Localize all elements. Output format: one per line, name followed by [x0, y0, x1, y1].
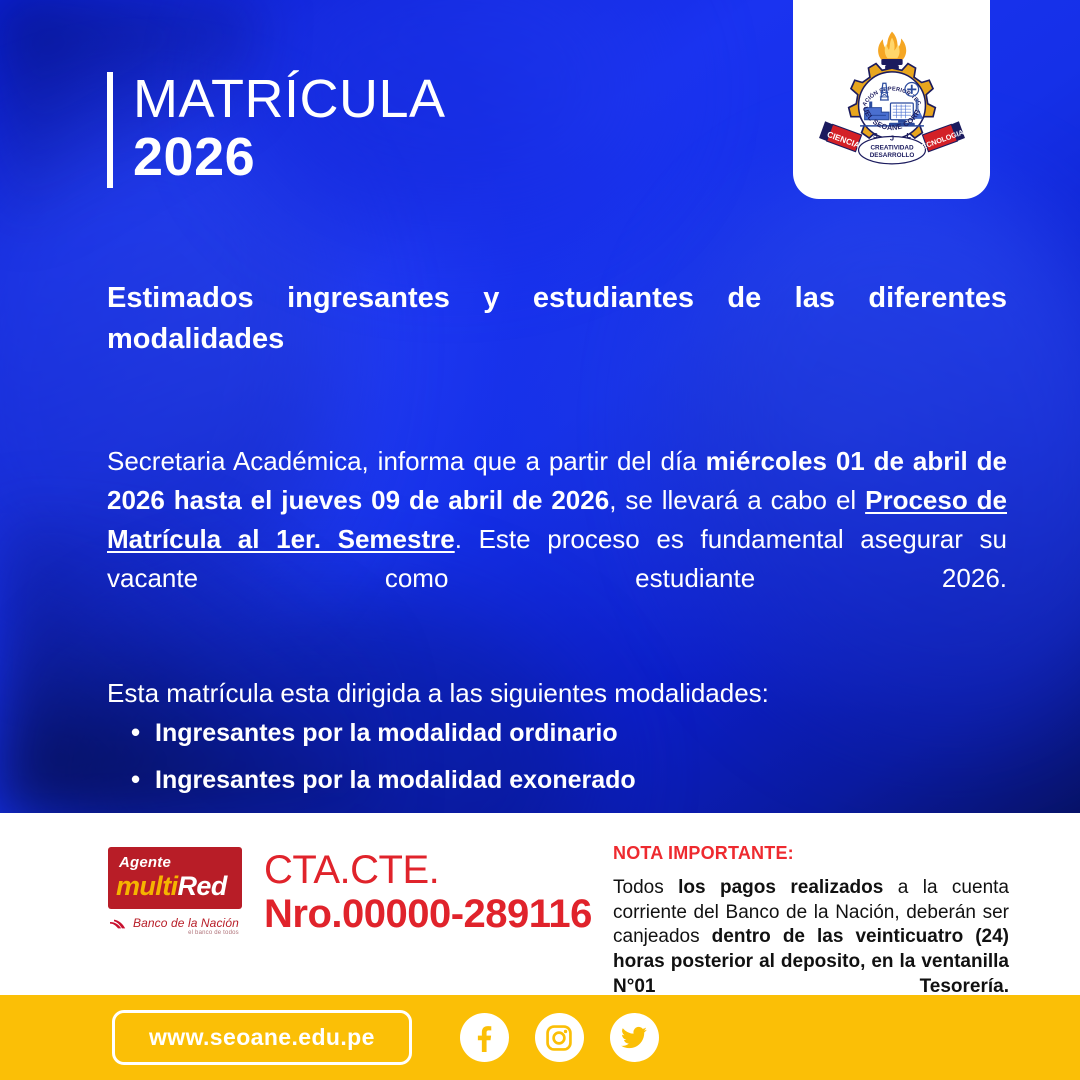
institution-crest-icon: INSTITUTO DE EDUCACIÓN SUPERIOR TECNOLÓG… [816, 24, 968, 176]
account-number-value: Nro.00000-289116 [264, 892, 592, 937]
banco-nacion-mark-icon [108, 918, 128, 934]
bottom-contact-bar: www.seoane.edu.pe [0, 995, 1080, 1080]
instagram-link[interactable] [535, 1013, 584, 1062]
account-number-block: CTA.CTE. Nro.00000-289116 [264, 847, 592, 937]
page-title-year: 2026 [133, 127, 446, 187]
institution-logo-card: INSTITUTO DE EDUCACIÓN SUPERIOR TECNOLÓG… [793, 0, 990, 199]
header-accent-bar [107, 72, 113, 188]
multired-wordmark: multiRed [116, 871, 227, 902]
svg-text:J: J [889, 133, 893, 142]
banco-nacion-tagline: el banco de todos [133, 930, 239, 936]
facebook-icon [470, 1024, 498, 1052]
modalidades-intro: Esta matrícula esta dirigida a las sigui… [107, 675, 1007, 711]
social-links [460, 1013, 659, 1062]
multired-logo-box: Agente multiRed [108, 847, 242, 909]
list-item: Ingresantes por la modalidad ordinario [107, 721, 1007, 746]
list-item: Ingresantes por la modalidad exonerado [107, 768, 1007, 793]
website-url-button[interactable]: www.seoane.edu.pe [112, 1010, 412, 1065]
body-paragraph: Secretaria Académica, informa que a part… [107, 442, 1007, 637]
twitter-link[interactable] [610, 1013, 659, 1062]
account-type-label: CTA.CTE. [264, 849, 592, 892]
banco-nacion-name: Banco de la Nación [133, 916, 239, 930]
matricula-2026-poster: MATRÍCULA 2026 INSTITUTO DE EDUCACIÓN SU… [0, 0, 1080, 1080]
twitter-icon [620, 1024, 648, 1052]
svg-text:DESARROLLO: DESARROLLO [869, 152, 914, 159]
paragraph-part-2: , se llevará a cabo el [609, 485, 865, 515]
banco-nacion-logo: Banco de la Nación el banco de todos [108, 916, 242, 936]
payment-info-panel: Agente multiRed Banco de la Nación el ba… [0, 813, 1080, 995]
multired-red-text: Red [178, 871, 227, 901]
multired-multi-text: multi [116, 871, 178, 901]
paragraph-part-1: Secretaria Académica, informa que a part… [107, 446, 706, 476]
multired-agente-label: Agente [119, 854, 171, 871]
svg-text:S: S [872, 131, 877, 140]
agente-multired-logo: Agente multiRed Banco de la Nación el ba… [108, 847, 242, 936]
page-title: MATRÍCULA [133, 72, 446, 127]
bank-account-block: Agente multiRed Banco de la Nación el ba… [108, 847, 592, 937]
body-lead-heading: Estimados ingresantes y estudiantes de l… [107, 278, 1007, 402]
svg-text:L: L [906, 131, 911, 140]
note-part-1: Todos [613, 877, 678, 898]
note-title: NOTA IMPORTANTE: [613, 843, 1009, 864]
note-bold-1: los pagos realizados [678, 877, 883, 898]
facebook-link[interactable] [460, 1013, 509, 1062]
poster-header: MATRÍCULA 2026 [107, 72, 446, 188]
instagram-icon [545, 1024, 573, 1052]
svg-text:CREATIVIDAD: CREATIVIDAD [870, 144, 913, 151]
